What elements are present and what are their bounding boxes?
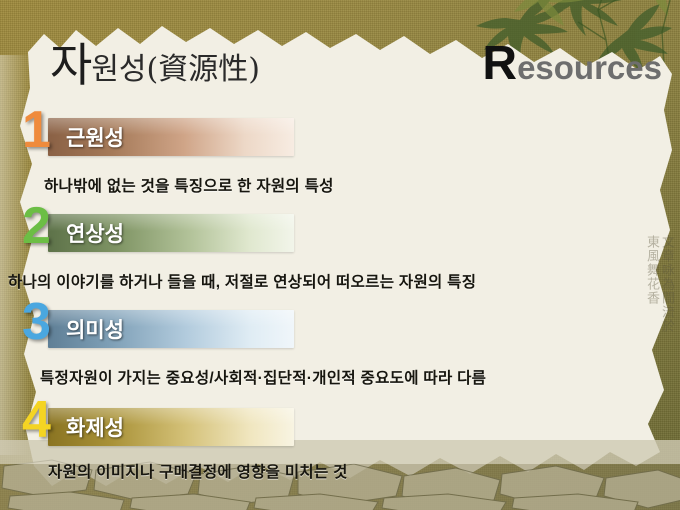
page-title-english-rest: esources [517, 49, 662, 86]
vertical-calligraphy: 文章咏為間流於 東風舞花香 [628, 235, 674, 485]
item-label-3: 의미성 [66, 320, 124, 341]
page-title-korean-rest: 원성(資源性) [91, 52, 260, 87]
item-number-2: 2 [22, 200, 51, 252]
item-label-2: 연상성 [66, 224, 124, 245]
page-title-english-lead: R [482, 37, 517, 90]
item-description-2: 하나의 이야기를 하거나 들을 때, 저절로 연상되어 떠오르는 자원의 특징 [8, 275, 476, 291]
item-description-4: 자원의 이미지나 구매결정에 영향을 미치는 것 [48, 465, 348, 481]
item-label-4: 화제성 [66, 418, 124, 439]
item-description-1: 하나밖에 없는 것을 특징으로 한 자원의 특성 [44, 179, 334, 195]
item-number-1: 1 [22, 104, 51, 156]
item-label-1: 근원성 [66, 128, 124, 149]
page-title-korean: 자원성(資源性) [50, 42, 260, 88]
page-title-korean-lead: 자 [50, 38, 91, 92]
item-description-3: 특정자원이 가지는 중요성/사회적·집단적·개인적 중요도에 따라 다름 [40, 371, 486, 387]
item-number-3: 3 [22, 296, 51, 348]
item-number-4: 4 [22, 394, 51, 446]
slide-canvas: 文章咏為間流於 東風舞花香 자원성(資源性) Resources 1 근원성 하… [0, 0, 680, 510]
page-title-english: Resources [482, 40, 662, 88]
